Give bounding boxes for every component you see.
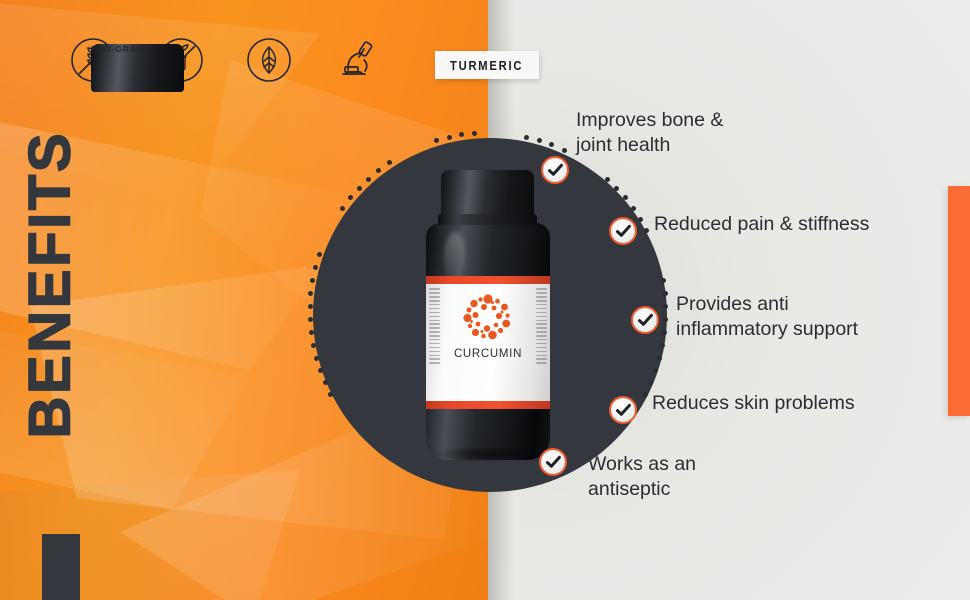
arc-dot [340, 206, 345, 211]
arc-dot [366, 177, 371, 182]
dotted-ring-logo-icon [462, 292, 514, 344]
arc-dot [314, 356, 319, 361]
bottle-cap-lip [438, 214, 537, 225]
benefit-text-1: Improves bone & joint health [576, 108, 876, 159]
arc-dot [661, 278, 666, 283]
certification-badge-label: PRO-GRADE [91, 44, 184, 92]
arc-dot [605, 177, 610, 182]
benefit-text-2: Reduced pain & stiffness [654, 212, 970, 237]
benefit-text-4: Reduces skin problems [652, 391, 952, 416]
leaf-icon [245, 36, 293, 84]
label-side-text-left [428, 286, 441, 398]
arc-dot [308, 317, 313, 322]
arc-dot [663, 291, 668, 296]
arc-dot [323, 380, 328, 385]
bottle-cap [441, 170, 534, 218]
check-icon [545, 454, 562, 471]
certification-badge-organic: ORGANIC [236, 36, 302, 84]
arc-dot [357, 186, 362, 191]
arc-dot [318, 368, 323, 373]
arc-dot [562, 148, 567, 153]
bottle-shadow [432, 446, 544, 462]
arc-dot [434, 138, 439, 143]
arc-dot [308, 304, 313, 309]
arc-dot [313, 265, 318, 270]
arc-dot [638, 217, 643, 222]
arc-dot [614, 186, 619, 191]
product-brand-name: CURCUMIN [426, 348, 550, 360]
arc-dot [310, 278, 315, 283]
benefit-check-5 [539, 448, 567, 476]
certification-badge-pro-grade: PRO-GRADE [324, 36, 390, 84]
benefit-check-2 [609, 217, 637, 245]
benefit-text-5: Works as an antiseptic [588, 452, 848, 503]
arc-dot [657, 356, 662, 361]
benefit-check-3 [631, 306, 659, 334]
arc-dot [631, 206, 636, 211]
check-icon [637, 312, 654, 329]
certification-badges: GLUTEN-FREE NON-GMO [60, 36, 390, 84]
product-tag-turmeric: TURMERIC [435, 51, 539, 79]
check-icon [615, 223, 632, 240]
product-benefits-banner: GLUTEN-FREE NON-GMO [0, 0, 970, 600]
page-title-benefits: BENEFITS [17, 159, 84, 439]
label-side-text-right [535, 286, 548, 398]
title-accent-block [42, 534, 80, 600]
product-bottle: CURCUMIN [410, 170, 565, 460]
label-stripe-bottom [426, 401, 550, 409]
benefit-text-3: Provides anti inflammatory support [676, 292, 966, 343]
benefit-check-4 [609, 396, 637, 424]
check-icon [615, 402, 632, 419]
arc-dot [311, 343, 316, 348]
benefit-check-1 [541, 156, 569, 184]
arc-dot [643, 392, 648, 397]
product-tag-label: TURMERIC [450, 58, 523, 73]
microscope-icon [333, 36, 381, 84]
arc-dot [309, 330, 314, 335]
arc-dot [447, 135, 452, 140]
check-icon [547, 162, 564, 179]
label-stripe-top [426, 276, 550, 284]
